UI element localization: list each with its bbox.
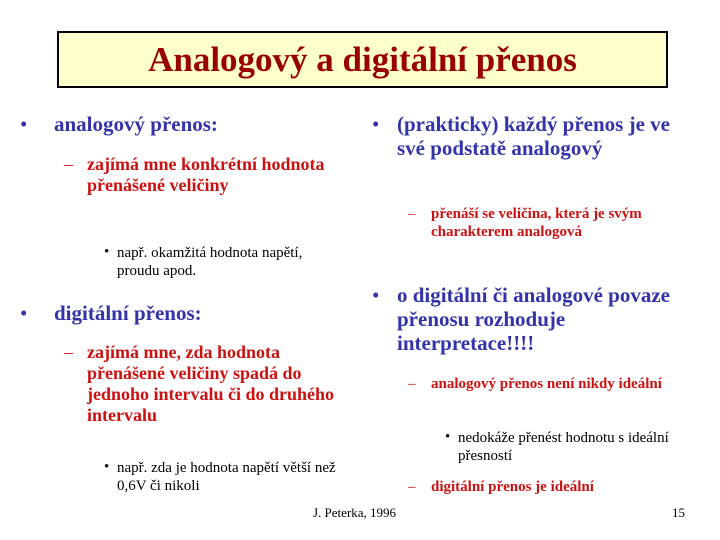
bullet-marker-icon: • <box>104 459 109 476</box>
slide-title-box: Analogový a digitální přenos <box>57 31 668 88</box>
list-item-label: digitální přenos: <box>54 302 354 326</box>
list-item-label: analogový přenos: <box>54 113 354 137</box>
list-item-label: např. okamžitá hodnota napětí, proudu ap… <box>117 244 332 281</box>
list-item-label: přenáší se veličina, která je svým chara… <box>431 206 689 241</box>
list-item-label: např. zda je hodnota napětí větší než 0,… <box>117 459 355 496</box>
bullet-marker-icon: • <box>372 113 379 137</box>
list-item-label: (prakticky) každý přenos je ve své podst… <box>397 113 677 161</box>
page-title: Analogový a digitální přenos <box>148 42 577 77</box>
dash-marker-icon: – <box>408 376 416 393</box>
dash-marker-icon: – <box>64 154 73 174</box>
dash-marker-icon: – <box>408 479 416 496</box>
slide-canvas: Analogový a digitální přenos • analogový… <box>0 0 720 540</box>
list-item-label: analogový přenos není nikdy ideální <box>431 376 693 394</box>
dash-marker-icon: – <box>408 206 416 223</box>
footer-author: J. Peterka, 1996 <box>313 505 396 521</box>
bullet-marker-icon: • <box>104 244 109 261</box>
list-item-label: zajímá mne konkrétní hodnota přenášené v… <box>87 154 332 196</box>
bullet-marker-icon: • <box>20 302 27 326</box>
dash-marker-icon: – <box>64 342 73 362</box>
list-item-label: nedokáže přenést hodnotu s ideální přesn… <box>458 429 690 466</box>
list-item-label: o digitální či analogové povaze přenosu … <box>397 284 687 356</box>
bullet-marker-icon: • <box>20 113 27 137</box>
list-item-label: digitální přenos je ideální <box>431 479 693 497</box>
list-item-label: zajímá mne, zda hodnota přenášené veliči… <box>87 342 352 426</box>
bullet-marker-icon: • <box>445 429 450 446</box>
footer-page-number: 15 <box>672 505 685 521</box>
bullet-marker-icon: • <box>372 284 379 308</box>
